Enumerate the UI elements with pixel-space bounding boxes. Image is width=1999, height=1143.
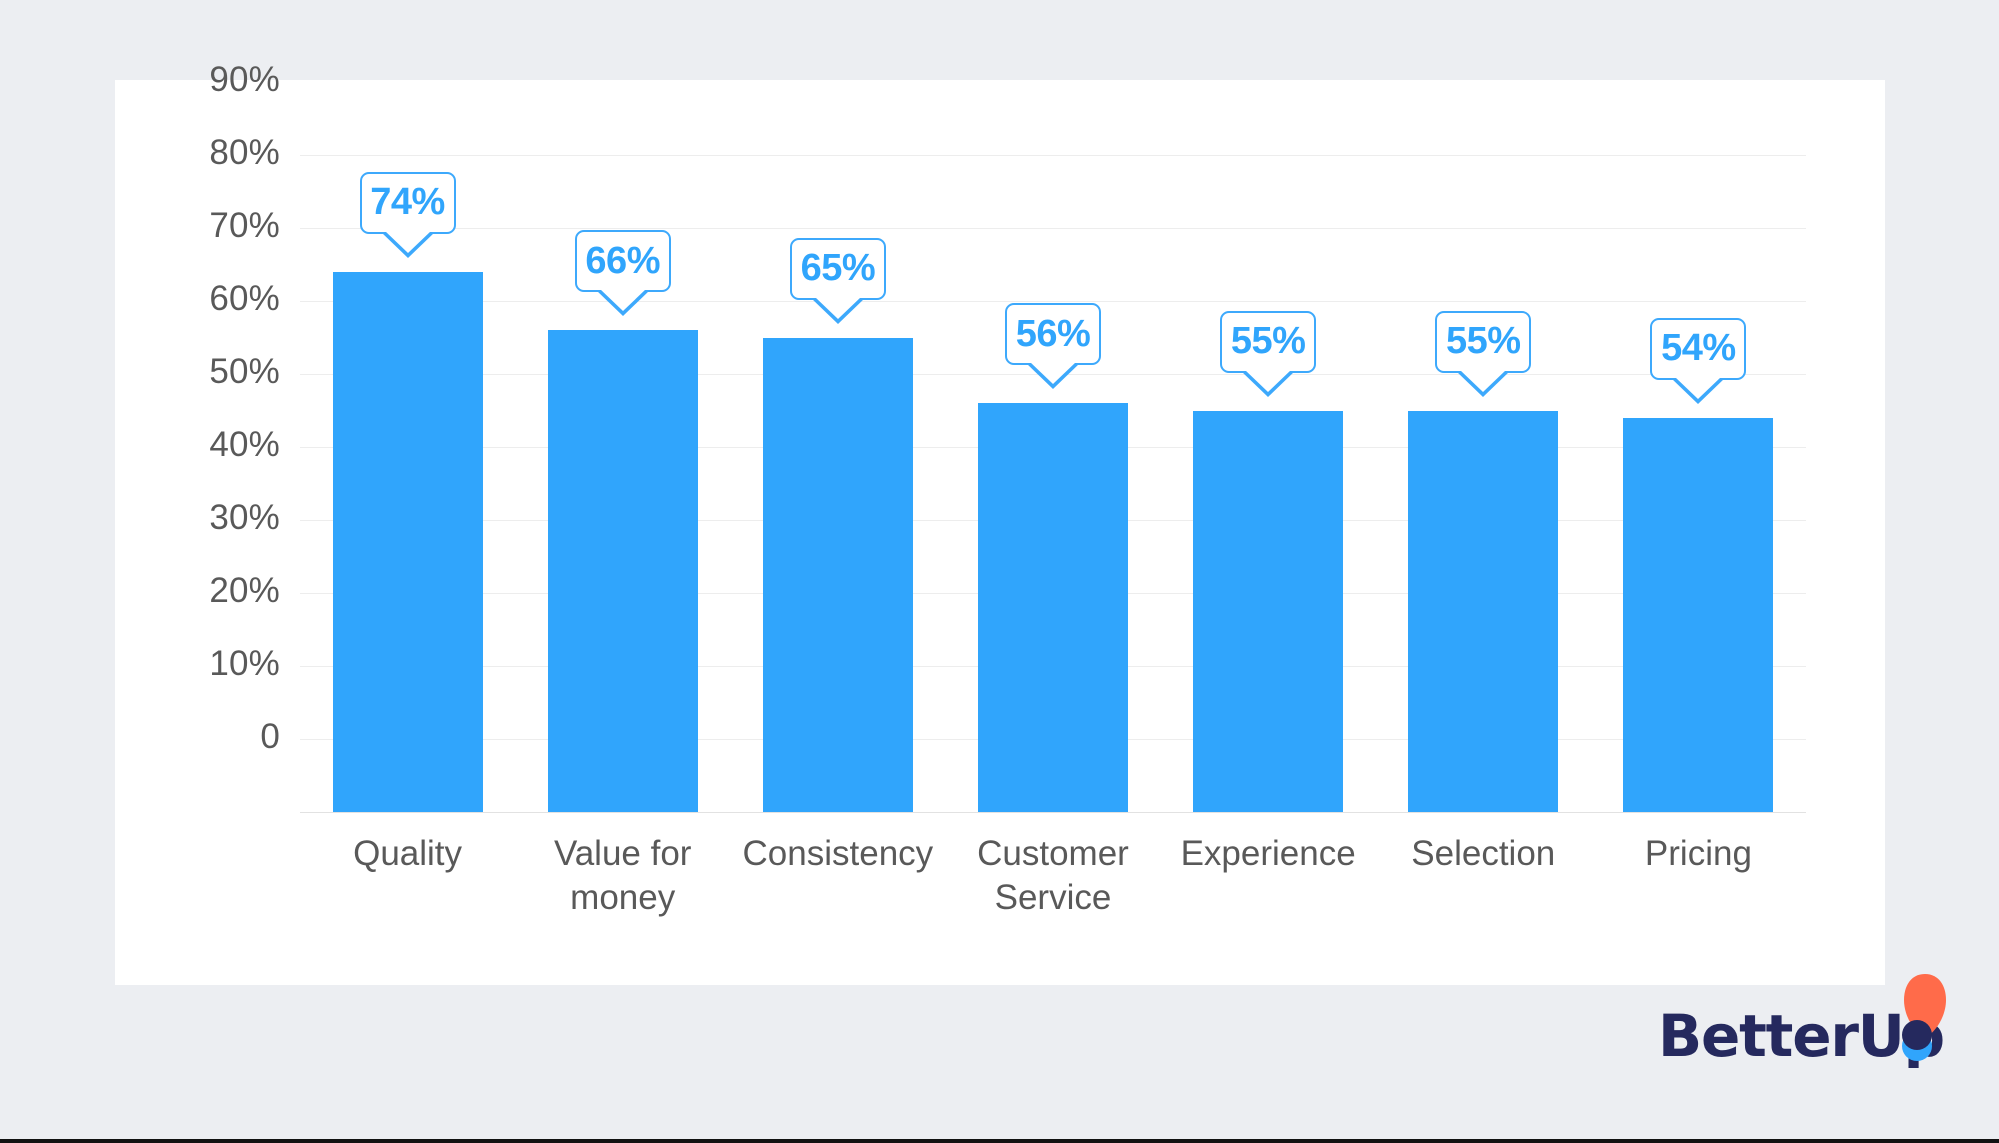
bar[interactable] [333, 272, 483, 812]
x-axis: QualityValue for moneyConsistencyCustome… [300, 832, 1806, 952]
bar-value-label: 54% [1661, 327, 1736, 370]
bar-value-callout: 55% [1435, 311, 1531, 373]
y-axis-tick-label: 70% [135, 206, 280, 246]
y-axis-tick-label: 40% [135, 425, 280, 465]
axis-baseline [300, 812, 1806, 813]
y-axis: 90%80%70%60%50%40%30%20%10%0 [135, 80, 280, 985]
bar-value-callout: 55% [1220, 311, 1316, 373]
callout-tail-fill [1675, 377, 1721, 399]
bar-group: 74% [300, 155, 515, 812]
y-axis-tick-label: 10% [135, 644, 280, 684]
bar[interactable] [548, 330, 698, 812]
chart-card: 90%80%70%60%50%40%30%20%10%0 74%66%65%56… [115, 80, 1885, 985]
bar-value-callout: 65% [790, 238, 886, 300]
callout-tail-fill [1460, 370, 1506, 392]
bar-group: 56% [945, 155, 1160, 812]
bar-group: 66% [515, 155, 730, 812]
bar-value-callout: 54% [1650, 318, 1746, 380]
bar-group: 55% [1376, 155, 1591, 812]
bar[interactable] [1623, 418, 1773, 812]
bar-value-callout: 56% [1005, 303, 1101, 365]
bar-value-label: 55% [1446, 320, 1521, 363]
bar-value-label: 55% [1231, 320, 1306, 363]
bar-value-label: 74% [370, 181, 445, 224]
bar-value-label: 66% [585, 240, 660, 283]
bar-value-callout: 66% [575, 230, 671, 292]
bar-series: 74%66%65%56%55%55%54% [300, 155, 1806, 812]
y-axis-tick-label: 30% [135, 498, 280, 538]
betterup-mark-icon [1886, 972, 1948, 1068]
x-axis-category-label: Experience [1161, 832, 1376, 876]
bar-group: 65% [730, 155, 945, 812]
x-axis-category-label: Value for money [515, 832, 730, 920]
callout-tail-fill [815, 297, 861, 319]
y-axis-tick-label: 80% [135, 133, 280, 173]
y-axis-tick-label: 90% [135, 60, 280, 100]
callout-tail-fill [1245, 370, 1291, 392]
x-axis-category-label: Selection [1376, 832, 1591, 876]
bar-value-label: 65% [801, 247, 876, 290]
callout-tail-fill [385, 231, 431, 253]
bar-group: 54% [1591, 155, 1806, 812]
bar-group: 55% [1161, 155, 1376, 812]
x-axis-category-label: Consistency [730, 832, 945, 876]
y-axis-tick-label: 20% [135, 571, 280, 611]
bar[interactable] [978, 403, 1128, 812]
bar[interactable] [1408, 411, 1558, 813]
y-axis-tick-label: 60% [135, 279, 280, 319]
bar[interactable] [1193, 411, 1343, 813]
x-axis-category-label: Customer Service [945, 832, 1160, 920]
bar-value-label: 56% [1016, 313, 1091, 356]
bar[interactable] [763, 338, 913, 813]
x-axis-category-label: Quality [300, 832, 515, 876]
bar-value-callout: 74% [360, 172, 456, 234]
callout-tail-fill [1030, 362, 1076, 384]
bottom-divider [0, 1139, 1999, 1143]
callout-tail-fill [600, 289, 646, 311]
y-axis-tick-label: 50% [135, 352, 280, 392]
y-axis-tick-label: 0 [135, 717, 280, 757]
betterup-logo: BetterUp [1658, 1000, 1948, 1070]
x-axis-category-label: Pricing [1591, 832, 1806, 876]
mark-navy-circle-shape [1902, 1020, 1932, 1050]
